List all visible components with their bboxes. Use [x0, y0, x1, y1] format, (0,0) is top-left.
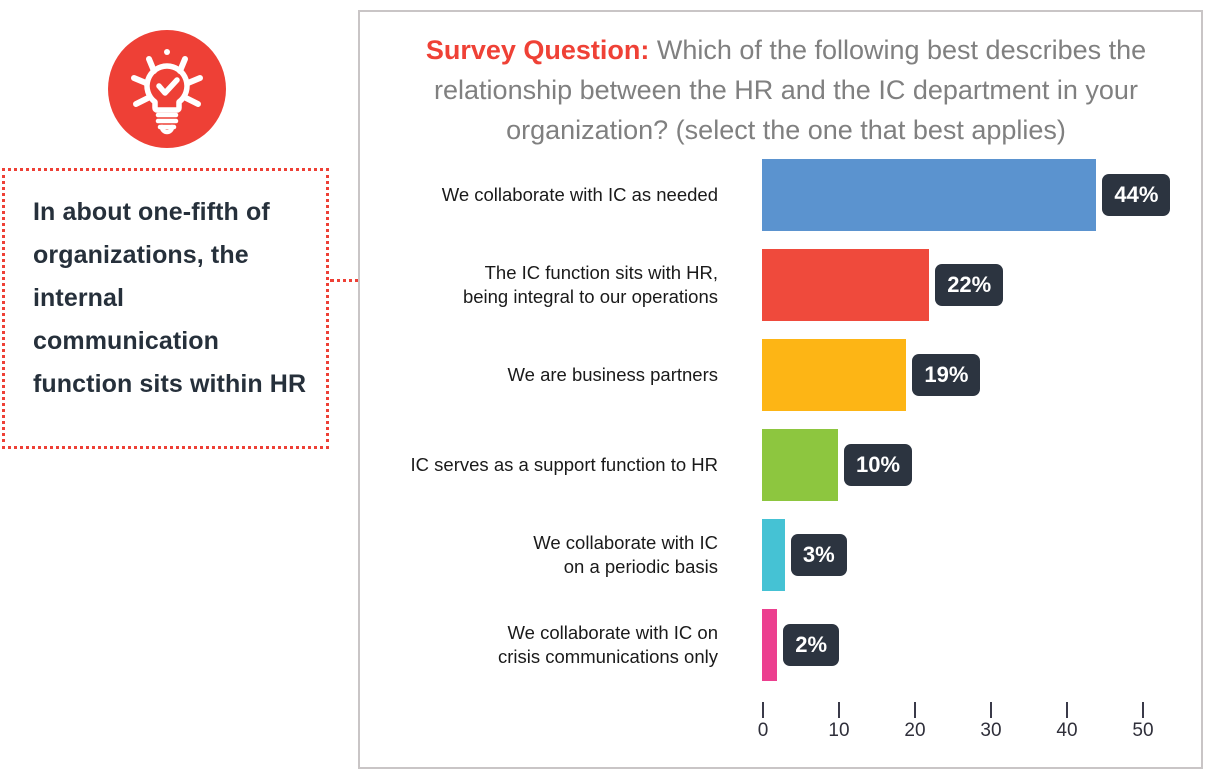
bar-rect[interactable]: [762, 609, 777, 681]
callout-text: In about one-fifth of organizations, the…: [33, 191, 311, 406]
bar-value-badge: 22%: [935, 264, 1003, 306]
callout-column: In about one-fifth of organizations, the…: [0, 0, 340, 779]
axis-tick-label: 20: [895, 720, 935, 742]
bar-label: We collaborate with ICon a periodic basi…: [358, 531, 718, 579]
bar-label: The IC function sits with HR,being integ…: [358, 261, 718, 309]
bar-label: We are business partners: [358, 363, 718, 387]
axis-tick-label: 50: [1123, 720, 1163, 742]
axis-tick-label: 10: [819, 720, 859, 742]
bar-value-badge: 44%: [1102, 174, 1170, 216]
callout-box: In about one-fifth of organizations, the…: [2, 168, 329, 449]
bar-rect[interactable]: [762, 339, 906, 411]
axis-tick-mark: [838, 702, 840, 718]
bar-value-badge: 3%: [791, 534, 847, 576]
bar-label: We collaborate with IC as needed: [358, 183, 718, 207]
axis-tick-label: 40: [1047, 720, 1087, 742]
bar-rect[interactable]: [762, 249, 929, 321]
bar-rect[interactable]: [762, 519, 785, 591]
lightbulb-check-icon: [108, 30, 226, 148]
axis-tick-mark: [914, 702, 916, 718]
bar-chart-plot: We collaborate with IC as needed44%The I…: [360, 12, 1205, 771]
bar-value-badge: 19%: [912, 354, 980, 396]
bar-rect[interactable]: [762, 429, 838, 501]
axis-tick-label: 30: [971, 720, 1011, 742]
axis-tick-mark: [990, 702, 992, 718]
bar-label: We collaborate with IC oncrisis communic…: [358, 621, 718, 669]
axis-tick-label: 0: [743, 720, 783, 742]
chart-panel: Survey Question: Which of the following …: [358, 10, 1203, 769]
axis-tick-mark: [1142, 702, 1144, 718]
bar-rect[interactable]: [762, 159, 1096, 231]
bar-value-badge: 2%: [783, 624, 839, 666]
x-axis: 01020304050: [360, 702, 1205, 757]
axis-tick-mark: [1066, 702, 1068, 718]
bar-value-badge: 10%: [844, 444, 912, 486]
bar-label: IC serves as a support function to HR: [358, 453, 718, 477]
axis-tick-mark: [762, 702, 764, 718]
